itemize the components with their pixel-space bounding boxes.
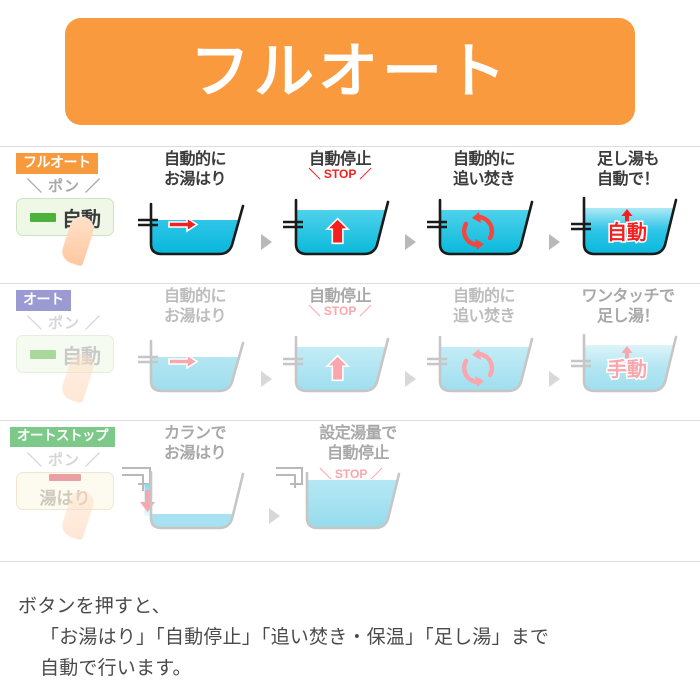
header-banner: フルオート [65, 18, 635, 125]
bathtub-reheating [420, 192, 548, 264]
led-indicator-icon [30, 213, 56, 222]
remote-cell-auto-stop: オートストップ ＼ ポン ／ 湯はり [4, 420, 122, 557]
step-stop-auto: 自動停止 [268, 283, 412, 420]
step-fill-auto: 自動的に お湯はり [122, 283, 268, 420]
step-caption: ワンタッチで 足し湯！ [556, 287, 700, 326]
footer-line-3: 自動で行います。 [18, 654, 682, 685]
remote-button-auto[interactable]: 自動 [16, 335, 114, 373]
bathtub-stopped [276, 192, 404, 264]
step-caption: 自動的に 追い焚き [412, 287, 556, 326]
led-indicator-icon [49, 474, 81, 481]
step-caption: 足し湯も 自動で！ [556, 150, 700, 189]
step-faucet-stop: 設定湯量で 自動停止 ＼ STOP ／ [276, 420, 426, 557]
mode-tag-auto: オート [16, 290, 71, 311]
mode-tag-auto-stop: オートストップ [10, 427, 115, 447]
press-label: ＼ ポン ／ [16, 449, 112, 470]
tub-label: 手動 [607, 357, 647, 381]
footer-description: ボタンを押すと、 「お湯はり」「自動停止」「追い焚き・保温」「足し湯」まで 自動… [18, 592, 682, 684]
step-fill-full-auto: 自動的に お湯はり [122, 146, 268, 283]
step-refill-auto: ワンタッチで 足し湯！ [556, 283, 700, 420]
step-caption: 自動的に お湯はり [122, 287, 268, 326]
bathtub-refilling: 手動 [564, 329, 692, 401]
step-reheat-auto: 自動的に 追い焚き [412, 283, 556, 420]
page-title: フルオート [190, 42, 510, 102]
stop-badge: ＼ STOP ／ [268, 167, 412, 182]
bathtub-filling [131, 192, 259, 264]
remote-cell-auto: オート ＼ ポン ／ 自動 [4, 283, 122, 420]
remote-cell-full-auto: フルオート ＼ ポン ／ 自動 [4, 146, 122, 283]
step-reheat-full-auto: 自動的に 追い焚き [412, 146, 556, 283]
footer-line-2: 「お湯はり」「自動停止」「追い焚き・保温」「足し湯」まで [18, 623, 682, 654]
step-refill-full-auto: 足し湯も 自動で！ [556, 146, 700, 283]
footer-line-1: ボタンを押すと、 [18, 592, 682, 623]
step-faucet-fill: カランで お湯はり [122, 420, 268, 557]
stop-badge: ＼ STOP ／ [268, 304, 412, 319]
row-auto: オート ＼ ポン ／ 自動 自動的に お湯はり [0, 283, 700, 420]
press-label: ＼ ポン ／ [16, 312, 112, 333]
remote-button-auto[interactable]: 自動 [16, 198, 114, 236]
led-indicator-icon [30, 350, 56, 359]
header-banner-wrap: フルオート [0, 18, 700, 125]
mode-tag-full-auto: フルオート [16, 153, 98, 174]
remote-button-fill[interactable]: 湯はり [16, 472, 114, 510]
bathtub-reheating [420, 329, 548, 401]
bathtub-full-stopped [287, 472, 415, 544]
step-caption: 自動的に 追い焚き [412, 150, 556, 189]
bathtub-low-water [131, 466, 259, 538]
infographic-page: フルオート フルオート ＼ ポン ／ 自動 自動的に お湯はり [0, 0, 700, 700]
bathtub-filling [131, 329, 259, 401]
bathtub-refilling: 自動 [564, 192, 692, 264]
row-full-auto: フルオート ＼ ポン ／ 自動 自動的に お湯はり [0, 146, 700, 283]
step-caption: 自動的に お湯はり [122, 150, 268, 189]
press-label: ＼ ポン ／ [16, 175, 112, 196]
divider-bottom [0, 561, 700, 562]
row-auto-stop: オートストップ ＼ ポン ／ 湯はり カランで お湯はり [0, 420, 700, 557]
step-stop-full-auto: 自動停止 [268, 146, 412, 283]
tub-label: 自動 [607, 220, 647, 244]
bathtub-stopped [276, 329, 404, 401]
